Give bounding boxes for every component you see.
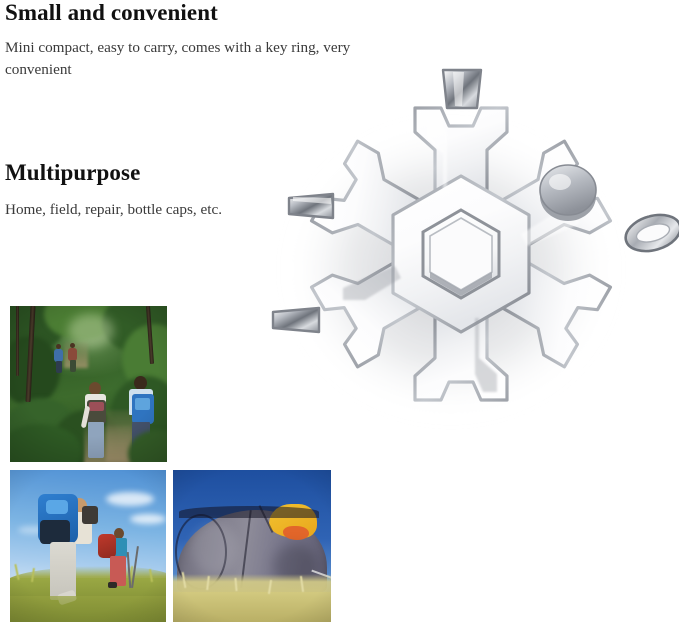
pry-bar-tip [273,308,319,332]
feature-title: Small and convenient [5,0,385,26]
flat-screwdriver-tip [289,194,333,218]
photo-hiking-hill [10,470,166,622]
photo-camping-tent [173,470,331,622]
product-feature-page: Small and convenient Mini compact, easy … [0,0,679,633]
screwdriver-bit-tip [443,70,481,108]
photo-hiking-forest [10,306,167,462]
cylinder-knob [540,165,596,221]
key-ring-loop [621,209,679,257]
hero-product-image [255,48,679,448]
